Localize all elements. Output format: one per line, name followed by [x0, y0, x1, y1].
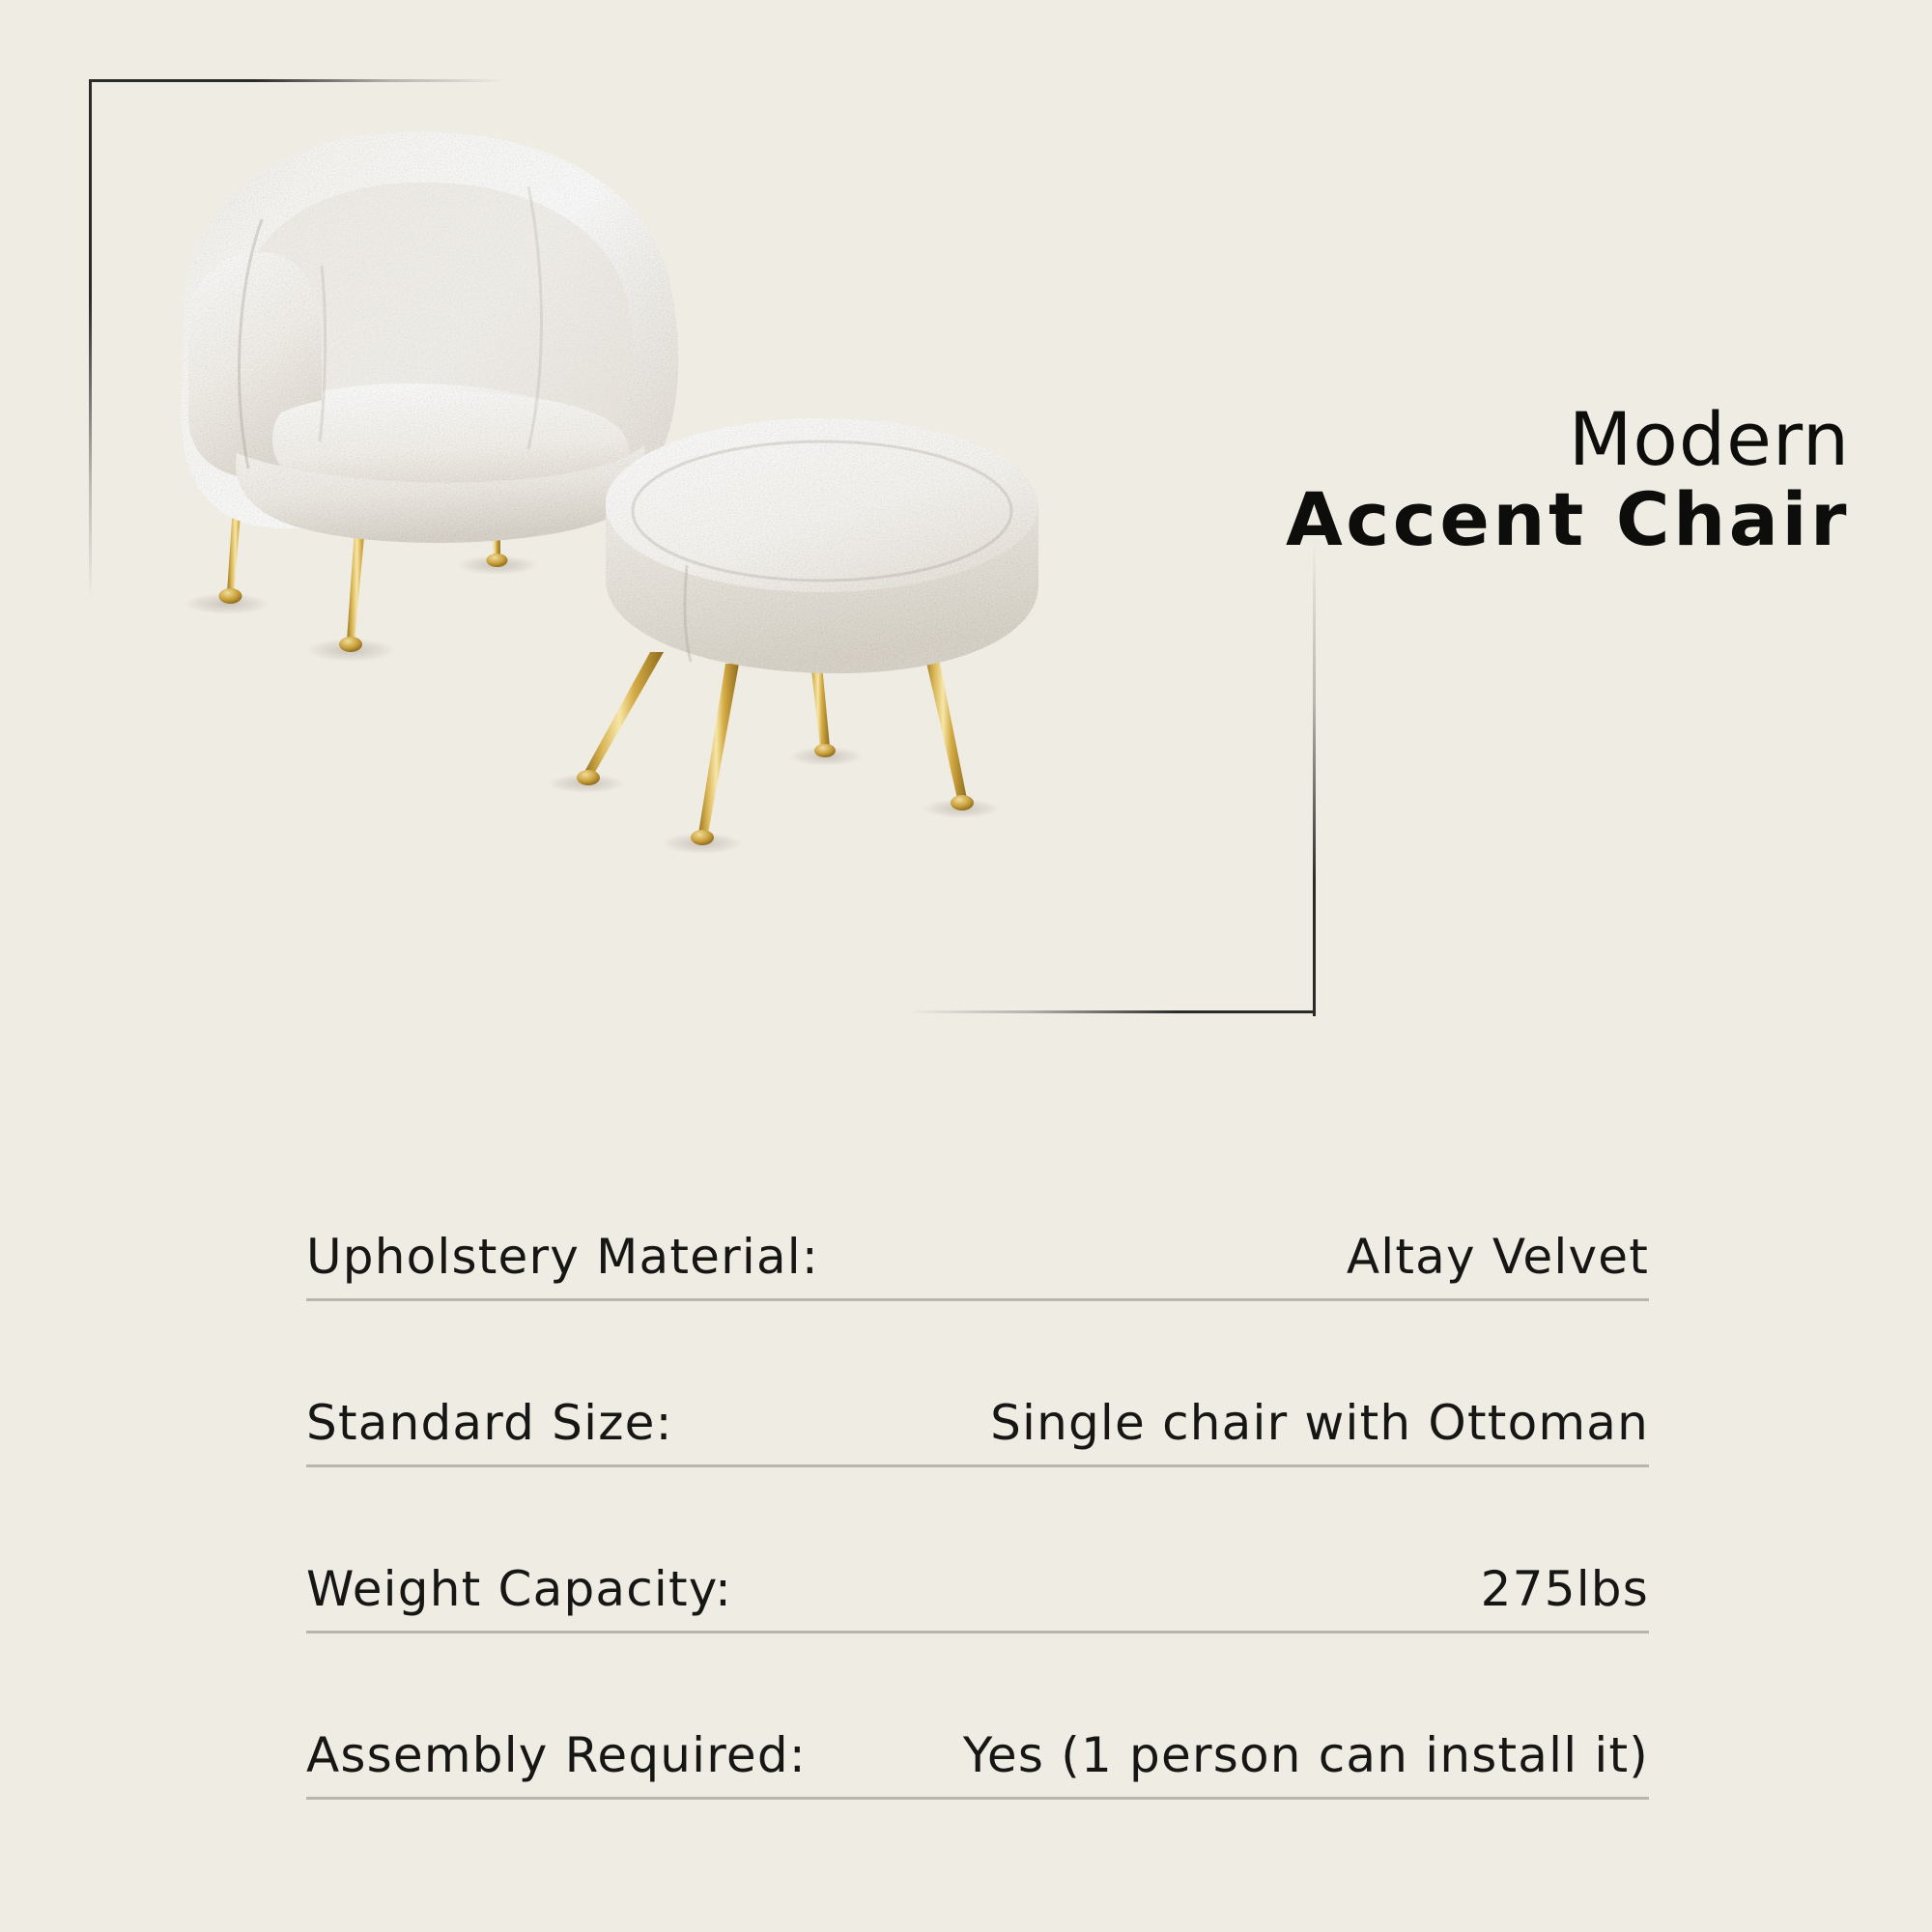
accent-chair-graphic	[181, 131, 678, 662]
ottoman-legs	[577, 644, 974, 845]
spec-row: Upholstery Material: Altay Velvet	[306, 1229, 1649, 1343]
spec-label-standard-size: Standard Size:	[306, 1395, 673, 1451]
spec-rule	[306, 1298, 1649, 1301]
spec-rule	[306, 1631, 1649, 1634]
spec-row: Assembly Required: Yes (1 person can ins…	[306, 1727, 1649, 1841]
product-photo	[92, 82, 1319, 1024]
spec-row: Standard Size: Single chair with Ottoman	[306, 1395, 1649, 1509]
title-line-accent-chair: Accent Chair	[1286, 481, 1850, 557]
spec-label-weight-capacity: Weight Capacity:	[306, 1561, 732, 1617]
spec-label-upholstery-material: Upholstery Material:	[306, 1229, 819, 1285]
product-card: Modern Accent Chair Upholstery Material:…	[0, 0, 1932, 1932]
spec-list: Upholstery Material: Altay Velvet Standa…	[306, 1229, 1649, 1841]
spec-value-assembly-required: Yes (1 person can install it)	[963, 1727, 1649, 1783]
spec-value-standard-size: Single chair with Ottoman	[990, 1395, 1649, 1451]
ottoman-graphic	[548, 418, 1038, 854]
spec-rule	[306, 1797, 1649, 1800]
page-title: Modern Accent Chair	[1286, 401, 1850, 557]
spec-label-assembly-required: Assembly Required:	[306, 1727, 807, 1783]
spec-value-upholstery-material: Altay Velvet	[1347, 1229, 1649, 1285]
spec-rule	[306, 1464, 1649, 1467]
spec-value-weight-capacity: 275lbs	[1481, 1561, 1649, 1617]
title-line-modern: Modern	[1286, 401, 1850, 477]
spec-row: Weight Capacity: 275lbs	[306, 1561, 1649, 1675]
